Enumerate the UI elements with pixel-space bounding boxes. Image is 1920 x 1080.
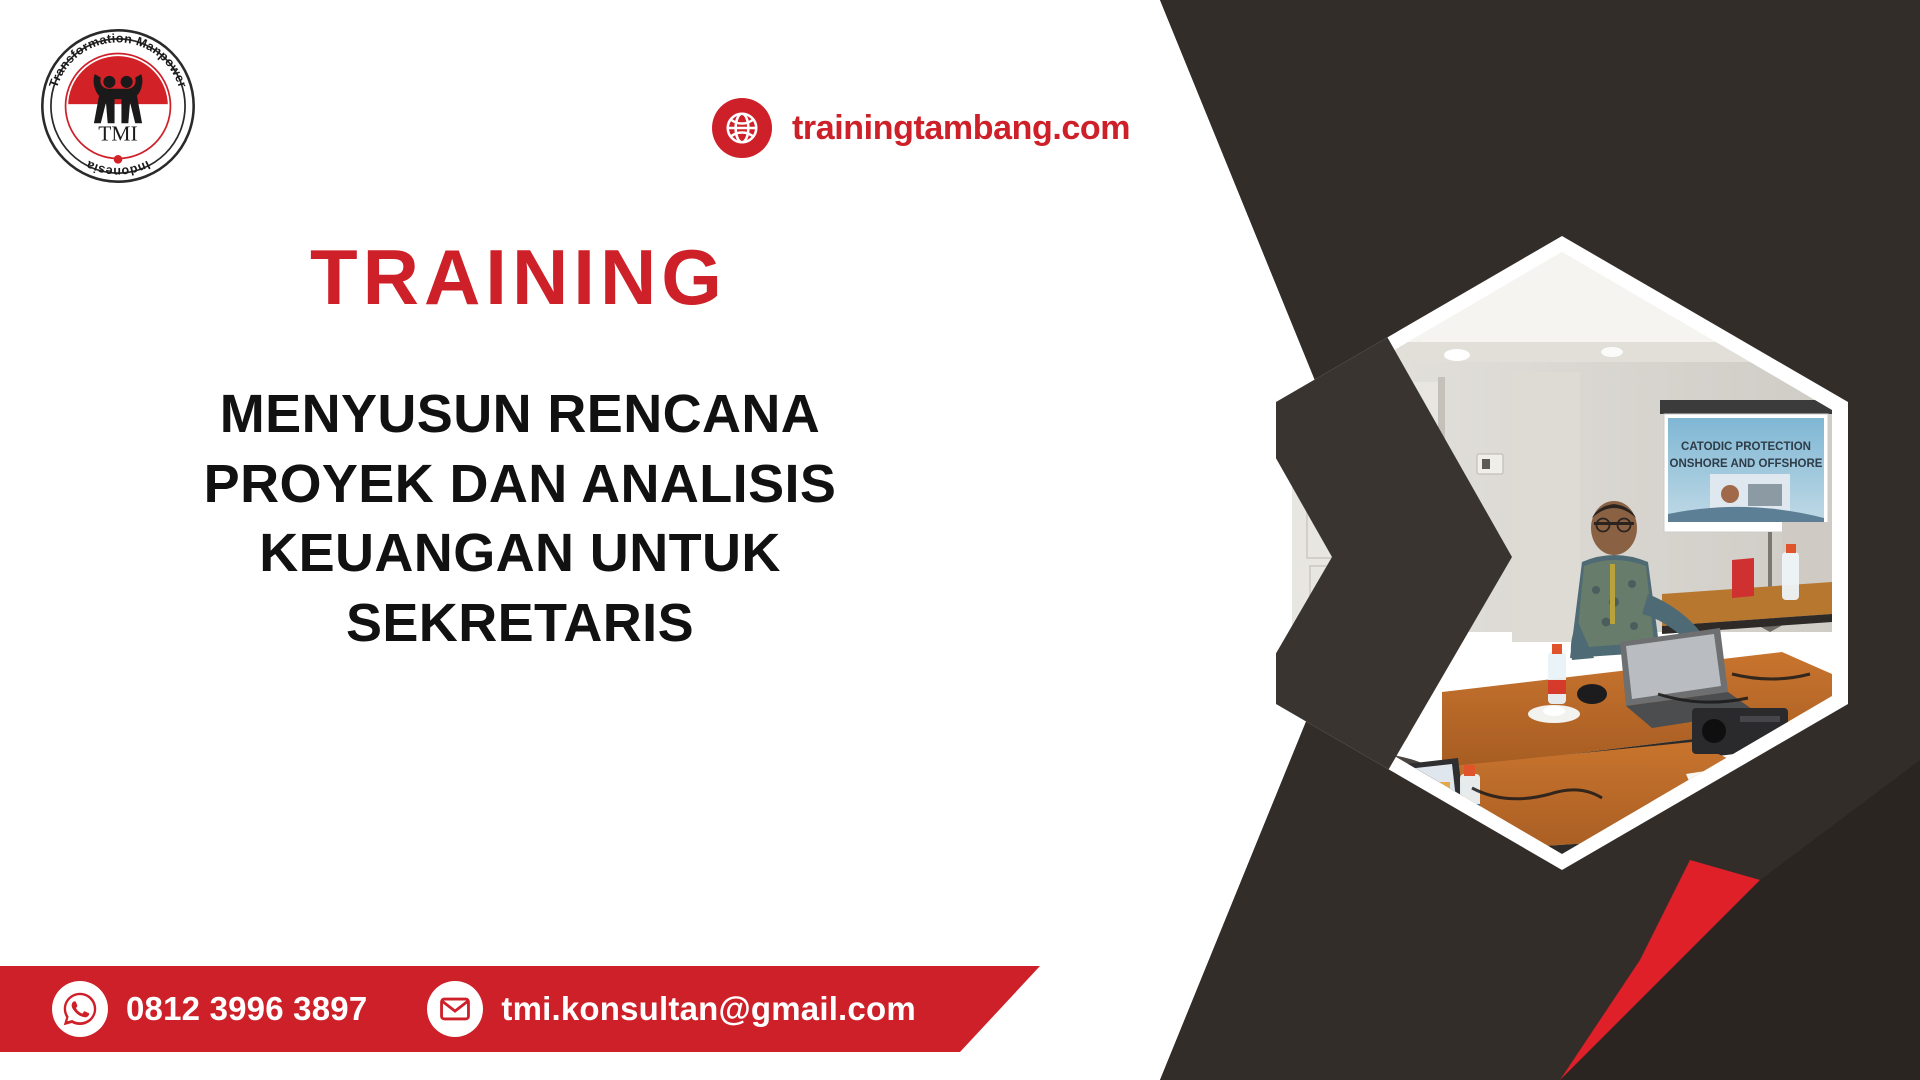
- training-room-photo: CATODIC PROTECTION ONSHORE AND OFFSHORE: [1262, 222, 1862, 884]
- page-title-line-2: PROYEK DAN ANALISIS: [0, 450, 1040, 520]
- email-address: tmi.konsultan@gmail.com: [501, 990, 916, 1028]
- mouse: [1577, 684, 1607, 704]
- website-row[interactable]: trainingtambang.com: [712, 98, 1130, 158]
- whatsapp-icon: [52, 981, 108, 1037]
- table-standee: [1732, 558, 1754, 598]
- water-bottle-1: [1548, 644, 1566, 704]
- contact-phone[interactable]: 0812 3996 3897: [52, 981, 367, 1037]
- slide-title-line-2: ONSHORE AND OFFSHORE: [1670, 458, 1823, 470]
- page-title-line-1: MENYUSUN RENCANA: [0, 380, 1040, 450]
- contact-email[interactable]: tmi.konsultan@gmail.com: [427, 981, 916, 1037]
- envelope-icon: [427, 981, 483, 1037]
- page-title-line-3: KEUANGAN UNTUK: [0, 519, 1040, 589]
- page-eyebrow-title: TRAINING: [310, 238, 727, 316]
- page-title: MENYUSUN RENCANA PROYEK DAN ANALISIS KEU…: [0, 380, 1040, 659]
- slide-title-line-1: CATODIC PROTECTION: [1681, 441, 1811, 453]
- contact-bar: 0812 3996 3897 tmi.konsultan@gmail.com: [0, 966, 1040, 1052]
- phone-number: 0812 3996 3897: [126, 990, 367, 1028]
- logo-dot: [114, 155, 123, 164]
- tmi-logo: TMI Transformation Manpower Indonesia: [32, 20, 204, 192]
- website-url: trainingtambang.com: [792, 109, 1130, 148]
- logo-center-text: TMI: [98, 121, 137, 145]
- globe-icon: [712, 98, 772, 158]
- page-title-line-4: SEKRETARIS: [0, 589, 1040, 659]
- water-bottle-3: [1782, 544, 1799, 600]
